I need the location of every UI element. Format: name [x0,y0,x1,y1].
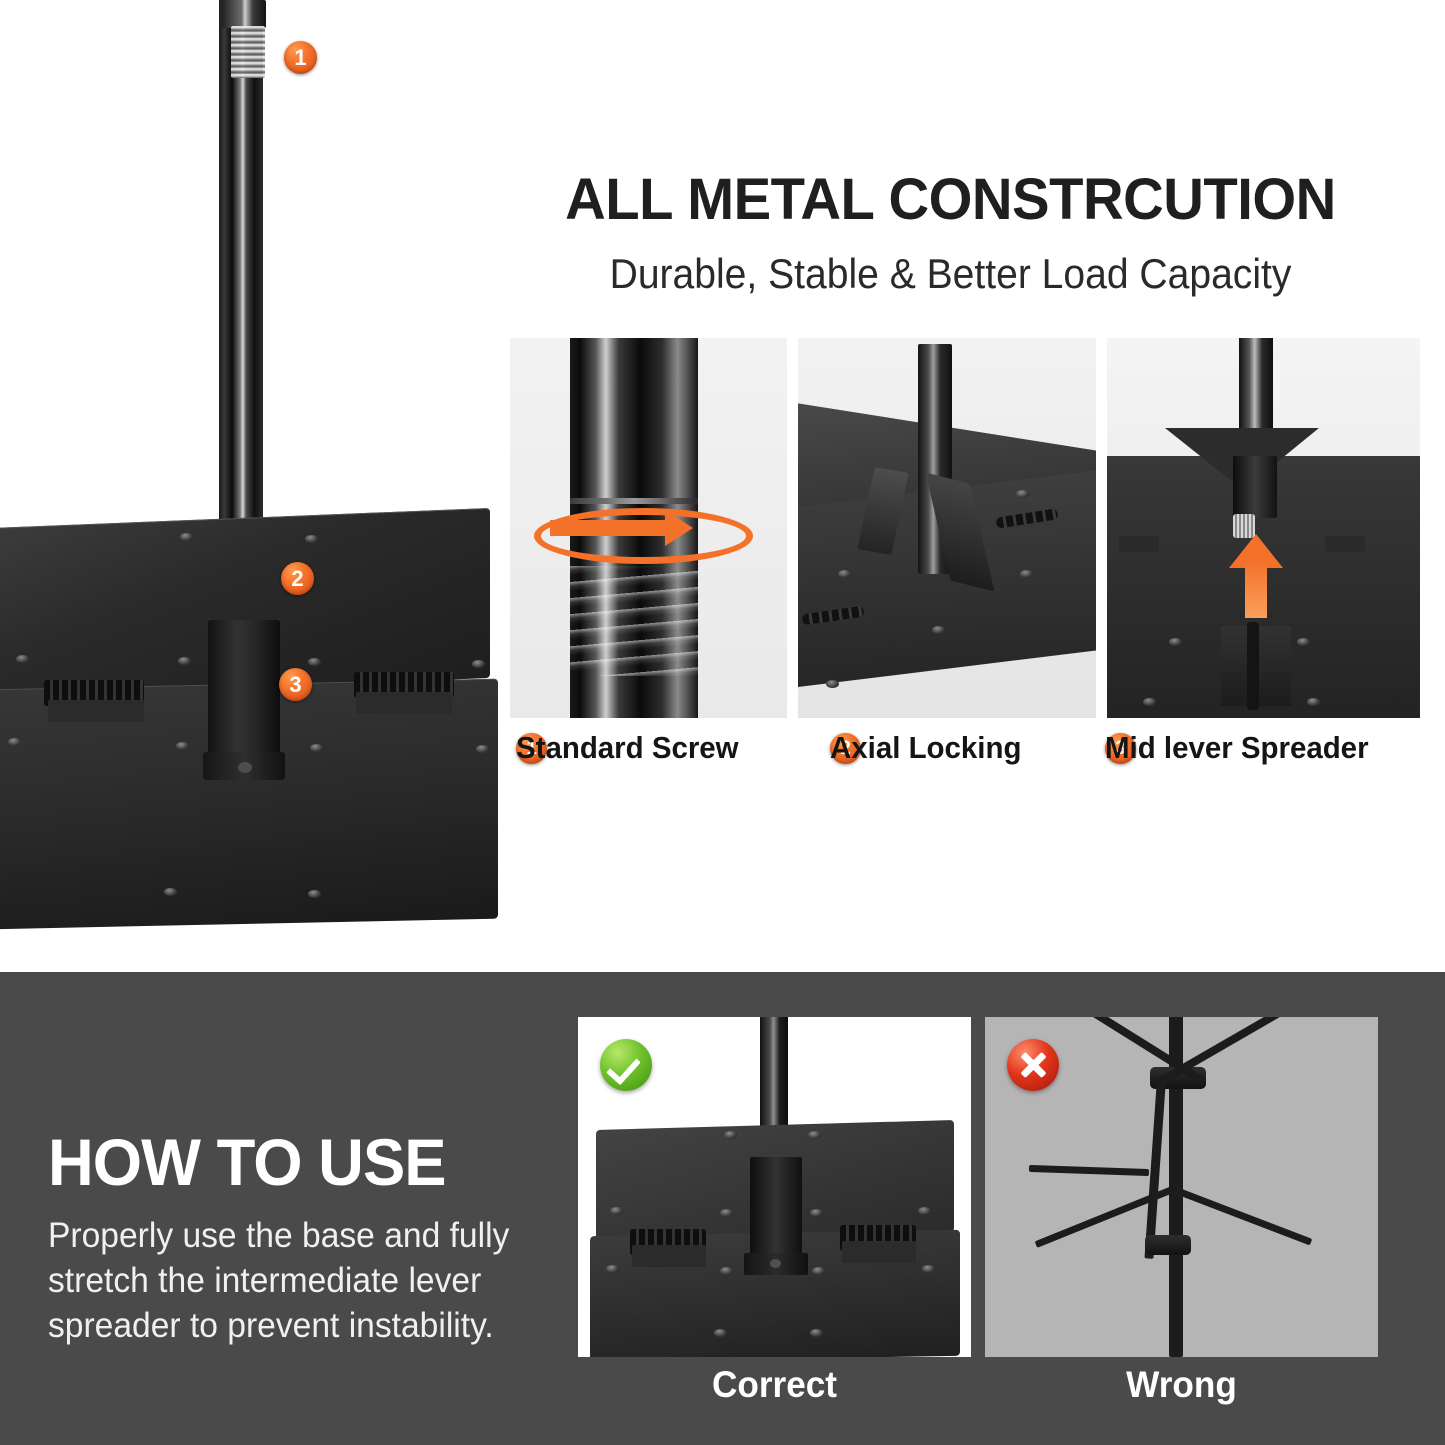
tripod-lower-hub [1145,1235,1191,1255]
comparison-panel-correct [578,1017,971,1357]
detail-panels [510,338,1420,718]
plate-bolt-hole [476,745,489,753]
plate-bolt-hole [720,1267,733,1275]
plate-bolt-hole [305,535,318,543]
plate-bolt-hole [472,660,485,668]
rotate-arrow-icon [534,508,753,564]
plate-bolt-hole [1297,638,1310,646]
section-headline: ALL METAL CONSTRCUTION [512,166,1390,233]
plate-bolt-hole [308,658,321,666]
plate-bolt-hole [724,1131,737,1139]
plate-bolt-hole [180,533,193,541]
hero-callout-badge-1: 1 [284,41,317,74]
how-to-use-section: HOW TO USE Properly use the base and ful… [0,972,1445,1445]
plate-bolt-hole [808,1131,821,1139]
tripod-brace-right [1170,1185,1313,1245]
detail-panel-standard-screw [510,338,787,718]
plate-bolt-hole [922,1265,935,1273]
section-subheadline: Durable, Stable & Better Load Capacity [530,250,1372,298]
plate-bolt-hole [176,742,189,750]
plate-bolt-hole [310,744,323,752]
detail-captions: 1 Standard Screw 2 Axial Locking 3 Mid l… [510,730,1425,780]
caption-mid-lever-spreader: 3 Mid lever Spreader [1105,730,1382,766]
plate-bolt-hole [308,890,321,898]
plate-bolt-hole [8,738,21,746]
plate-bolt-hole [1307,698,1320,706]
correct-hinge-plate-left [632,1245,706,1267]
plate-bolt-hole [1169,638,1182,646]
plate-bolt-hole [1020,570,1033,578]
correct-pole [760,1017,788,1141]
caption-label-2: Axial Locking [830,730,1021,766]
hero-callout-badge-3: 3 [279,668,312,701]
spreader-collar [1233,456,1277,518]
mid-lever-rod [1247,622,1259,710]
plate-bolt-hole [606,1265,619,1273]
detail-panel-mid-lever-spreader [1107,338,1420,718]
correct-collar-knob [770,1259,781,1268]
pole-upper-segment [222,0,266,28]
hinge-plate-right [356,692,452,714]
comparison-label-wrong: Wrong [995,1364,1368,1406]
screw-threads [570,566,698,676]
how-to-use-body: Properly use the base and fully stretch … [48,1214,518,1348]
hero-callout-badge-2: 2 [281,562,314,595]
plate-bolt-hole [178,657,191,665]
standard-screw-thread [231,26,265,78]
plate-bolt-hole [932,626,945,634]
pole-joint-seam [570,498,698,504]
plate-bolt-hole [16,655,29,663]
plate-bolt-hole [812,1267,825,1275]
all-metal-construction-section: 1 2 3 ALL METAL CONSTRCUTION Durable, St… [0,0,1445,972]
plate-bolt-hole [164,888,177,896]
detail-panel-axial-locking [798,338,1096,718]
correct-hinge-plate-right [842,1241,916,1263]
spreader-bracket-left [1119,536,1159,552]
plate-bolt-hole [1016,490,1029,498]
hinge-plate-left [48,700,144,722]
collar-knob [238,762,252,773]
red-cross-icon [1007,1039,1059,1091]
comparison-label-correct: Correct [588,1364,961,1406]
plate-bolt-hole [720,1209,733,1217]
rotate-arrow-head [665,510,693,546]
plate-bolt-hole [610,1207,623,1215]
plate-bolt-hole [810,1209,823,1217]
tripod-brace-upper-left [1029,1165,1149,1176]
caption-label-1: Standard Screw [516,730,739,766]
rotate-arrow-shaft [550,520,670,536]
green-check-icon [600,1039,652,1091]
plate-bolt-hole [810,1329,823,1337]
comparison-panel-wrong [985,1017,1378,1357]
plate-bolt-hole [826,680,839,688]
plate-bolt-hole [1143,698,1156,706]
infographic-root: 1 2 3 ALL METAL CONSTRCUTION Durable, St… [0,0,1445,1445]
up-arrow-shaft [1245,560,1267,618]
plate-bolt-hole [838,570,851,578]
plate-bolt-hole [918,1207,931,1215]
spreader-bracket-right [1325,536,1365,552]
caption-axial-locking: 2 Axial Locking [830,730,1032,766]
hero-product-photo: 1 2 3 [0,0,520,960]
caption-label-3: Mid lever Spreader [1105,730,1369,766]
caption-standard-screw: 1 Standard Screw [516,730,750,766]
how-to-use-title: HOW TO USE [48,1124,446,1200]
plate-bolt-hole [714,1329,727,1337]
